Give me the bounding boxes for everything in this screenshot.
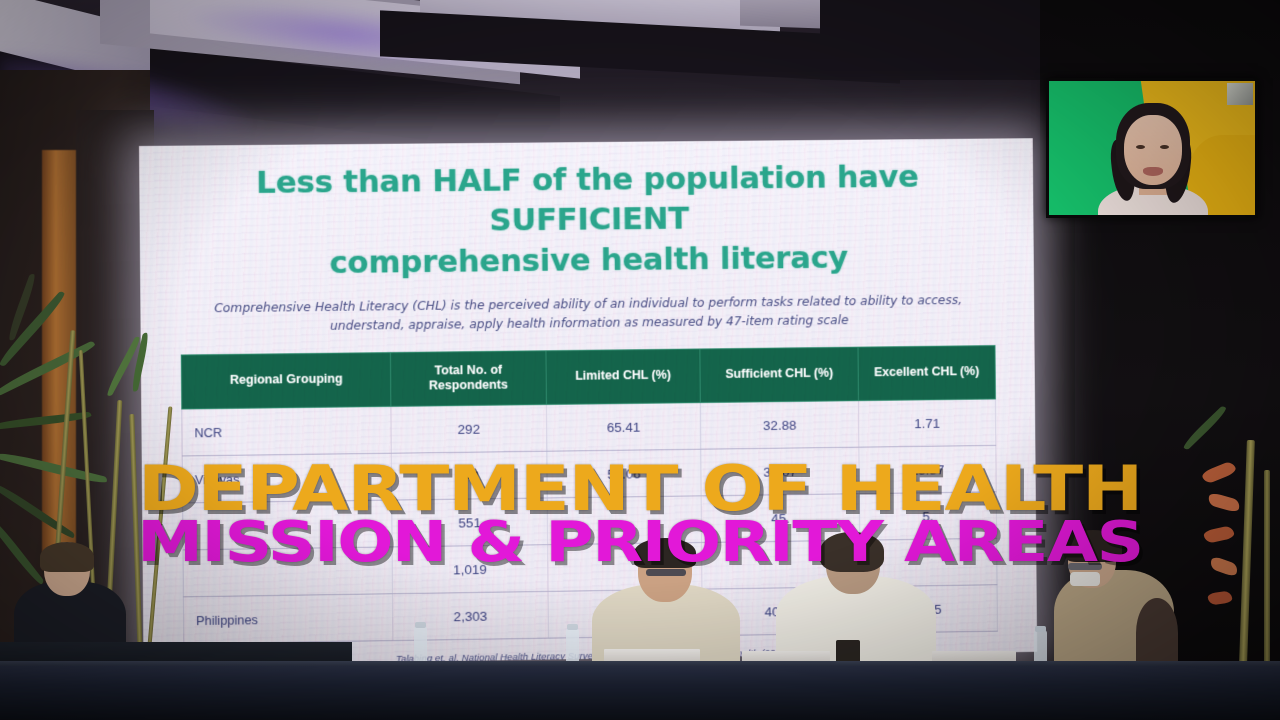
column-header-sufficient-chl: Sufficient CHL (%) xyxy=(700,347,858,403)
chair-right xyxy=(1136,598,1178,668)
cell-excellent-chl: 1.71 xyxy=(858,399,995,447)
webcam-speaker-face xyxy=(1124,115,1182,185)
webcam-speaker-eye-left xyxy=(1136,145,1145,149)
slide-title-line-1: Less than HALF of the population have SU… xyxy=(256,159,919,239)
table-header-row: Regional Grouping Total No. of Responden… xyxy=(181,345,995,409)
column-header-excellent-chl: Excellent CHL (%) xyxy=(858,345,996,401)
webcam-inset[interactable] xyxy=(1046,78,1258,218)
water-bottle-cap-3 xyxy=(1035,626,1046,632)
webcam-corner-highlight xyxy=(1227,83,1253,105)
cell-sufficient-chl: 32.88 xyxy=(701,401,859,450)
slide-subtitle: Comprehensive Health Literacy (CHL) is t… xyxy=(180,291,995,337)
panel-table-front xyxy=(0,666,1280,720)
cell-respondents: 292 xyxy=(391,405,547,454)
column-header-limited-chl: Limited CHL (%) xyxy=(546,349,701,405)
water-bottle-1 xyxy=(414,626,427,666)
slide-title-line-2: comprehensive health literacy xyxy=(180,236,995,284)
overlay-title-secondary: MISSION & PRIORITY AREAS xyxy=(0,510,1280,575)
column-header-total-respondents: Total No. of Respondents xyxy=(391,350,547,406)
broadcast-frame: Less than HALF of the population have SU… xyxy=(0,0,1280,720)
water-bottle-cap-1 xyxy=(415,622,426,628)
water-bottle-cap-2 xyxy=(567,624,578,630)
webcam-speaker-mouth xyxy=(1143,167,1163,176)
slide-title: Less than HALF of the population have SU… xyxy=(179,156,995,284)
cell-limited-chl: 65.41 xyxy=(546,403,701,452)
webcam-speaker-eye-right xyxy=(1160,145,1169,149)
